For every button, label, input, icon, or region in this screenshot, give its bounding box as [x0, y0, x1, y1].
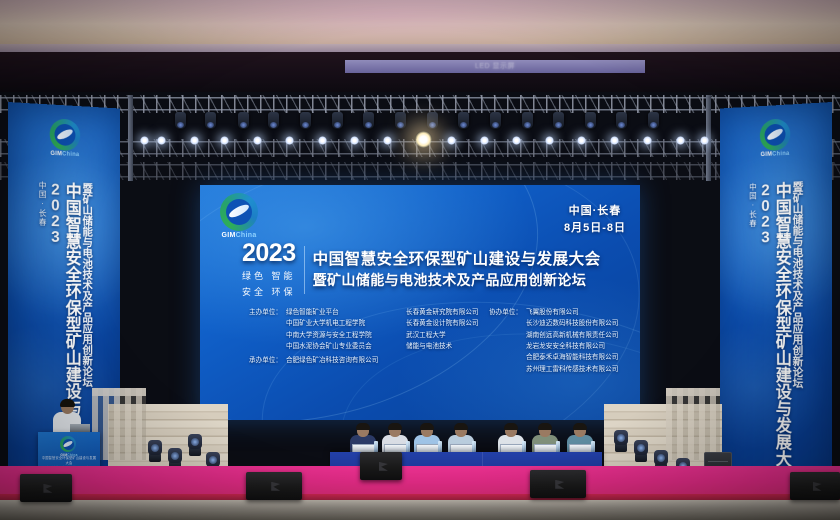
sponsor-host-col1-item: 中南大学资源与安全工程学院: [282, 330, 406, 341]
balustrade-right: [666, 388, 720, 460]
sponsor-coorganizer-label: [468, 364, 522, 375]
screen-titles: 中国智慧安全环保型矿山建设与发展大会 暨矿山储能与电池技术及产品应用创新论坛: [313, 250, 601, 290]
stage-spotlight: [643, 136, 652, 145]
logo-wordmark-main: GIMChina: [220, 232, 258, 239]
speaker-hair: [60, 399, 75, 407]
sponsor-host-col1-item: 中国矿业大学机电工程学院: [282, 318, 406, 329]
screen-year-block: 2023 绿色 智能 安全 环保: [242, 241, 296, 298]
floor-moving-light: [148, 440, 162, 462]
light-lens: [637, 444, 645, 452]
stage-spotlight: [700, 136, 709, 145]
light-lens: [617, 434, 625, 442]
sponsor-coorganizer-row: 协办单位：飞翼股份有限公司: [468, 307, 628, 318]
screen-location-block: 中国·长春 8月5日-8日: [564, 203, 626, 236]
light-head: [148, 440, 162, 455]
moving-head-light: [648, 112, 659, 129]
moving-head-light: [395, 112, 406, 129]
side-banner-right: GIMChina 暨矿山储能与电池技术及产品应用创新论坛 中国智慧安全环保型矿山…: [720, 102, 832, 520]
screen-title-line1: 中国智慧安全环保型矿山建设与发展大会: [313, 250, 601, 269]
gim-logo-left: GIMChina: [39, 118, 90, 162]
balustrade-left: [92, 388, 146, 460]
sponsor-coorganizer-label: [468, 330, 522, 341]
sponsor-coorganizer-item: 合肥泰禾卓海智能科技有限公司: [522, 352, 628, 363]
sponsor-host-col1-item: 绿色智能矿业平台: [282, 307, 406, 318]
screen-slogan-line2: 安全 环保: [242, 285, 296, 298]
moving-head-light: [427, 112, 438, 129]
stage-monitor-speaker: [20, 474, 72, 502]
moving-head-light: [458, 112, 469, 129]
moving-head-light: [300, 112, 311, 129]
moving-head-light: [522, 112, 533, 129]
stage-spotlight: [545, 136, 554, 145]
light-head: [654, 450, 668, 465]
screen-title-line2: 暨矿山储能与电池技术及产品应用创新论坛: [313, 271, 601, 289]
sponsor-coorganizer-item: 长沙迪迈数码科技股份有限公司: [522, 318, 628, 329]
main-led-screen: GIMChina 中国·长春 8月5日-8日 2023 绿色 智能 安全 环保 …: [200, 185, 640, 420]
light-head: [634, 440, 648, 455]
stage-spotlight: [447, 136, 456, 145]
sponsor-coorganizer-block: 协办单位：飞翼股份有限公司长沙迪迈数码科技股份有限公司湖南创远高新机械有限责任公…: [468, 307, 628, 375]
sponsor-coorganizer-row: 合肥泰禾卓海智能科技有限公司: [468, 352, 628, 363]
light-lens: [209, 456, 217, 464]
stage-spotlight: [512, 136, 521, 145]
floor-moving-light: [634, 440, 648, 462]
screen-dates: 8月5日-8日: [564, 220, 626, 237]
attendee-hair: [454, 423, 468, 430]
sponsor-coorganizer-label: 协办单位：: [468, 307, 522, 318]
sponsor-coorganizer-row: 湖南创远高新机械有限责任公司: [468, 330, 628, 341]
screen-title-divider: [304, 246, 305, 294]
gim-logo-right: GIMChina: [750, 118, 801, 162]
stage-spotlight: [285, 136, 294, 145]
sponsor-host-label: [228, 318, 282, 329]
light-head: [168, 448, 182, 463]
sponsor-coorganizer-rows: 协办单位：飞翼股份有限公司长沙迪迈数码科技股份有限公司湖南创远高新机械有限责任公…: [468, 307, 628, 375]
lighting-truss-front: [0, 95, 840, 113]
stage-spotlight: [383, 136, 392, 145]
attendee-hair: [538, 423, 552, 430]
stage-spotlight: [318, 136, 327, 145]
sponsor-host-label: [228, 341, 282, 352]
logo-wordmark-left: GIMChina: [50, 151, 80, 158]
screen-slogan-line1: 绿色 智能: [242, 269, 296, 282]
sponsor-coorganizer-item: 飞翼股份有限公司: [522, 307, 628, 318]
side-banner-right-location: 中国·长春: [749, 183, 757, 506]
moving-head-light: [363, 112, 374, 129]
sponsor-coorganizer-row: 苏州理工雷科传感技术有限公司: [468, 364, 628, 375]
light-head: [614, 430, 628, 445]
sponsor-host-col1-item: 中国水泥协会矿山专业委员会: [282, 341, 406, 352]
stage-spotlight: [480, 136, 489, 145]
light-head: [206, 452, 220, 467]
lighting-truss-back: [0, 162, 840, 180]
moving-head-light: [205, 112, 216, 129]
floor-moving-light: [188, 434, 202, 456]
side-banner-right-subtitle: 暨矿山储能与电池技术及产品应用创新论坛: [791, 181, 802, 508]
venue-led-strip-text: LED 显示屏: [345, 60, 645, 73]
screen-location: 中国·长春: [564, 203, 626, 220]
stage-spotlight: [610, 136, 619, 145]
moving-head-light: [238, 112, 249, 129]
attendee-hair: [504, 423, 518, 430]
moving-head-light: [490, 112, 501, 129]
light-lens: [171, 452, 179, 460]
stage-monitor-speaker: [530, 470, 586, 498]
floor-moving-light: [614, 430, 628, 452]
stage-spotlight: [190, 136, 199, 145]
stage-spotlight: [253, 136, 262, 145]
sponsor-coorganizer-label: [468, 341, 522, 352]
attendee-hair: [388, 423, 402, 430]
sponsor-coorganizer-row: 龙岩龙安安全科技有限公司: [468, 341, 628, 352]
stage-spotlight: [415, 131, 432, 148]
sponsor-coorganizer-item: 苏州理工雷科传感技术有限公司: [522, 364, 628, 375]
sponsor-coorganizer-item: 龙岩龙安安全科技有限公司: [522, 341, 628, 352]
sponsor-coorganizer-item: 湖南创远高新机械有限责任公司: [522, 330, 628, 341]
side-banner-right-text: 暨矿山储能与电池技术及产品应用创新论坛 中国智慧安全环保型矿山建设与发展大会 2…: [720, 180, 832, 510]
stage-spotlight: [140, 136, 149, 145]
attendee-hair: [573, 423, 587, 430]
screen-year: 2023: [242, 241, 296, 266]
moving-head-light: [585, 112, 596, 129]
venue-led-strip: LED 显示屏: [345, 60, 645, 73]
moving-head-light: [268, 112, 279, 129]
side-banner-right-year: 2023: [757, 182, 772, 507]
gim-logo-main: GIMChina: [208, 193, 270, 242]
sponsor-coorganizer-label: [468, 352, 522, 363]
screen-sponsor-block: 主办单位：绿色智能矿业平台长春黄金研究院有限公司中国矿业大学机电工程学院长春黄金…: [228, 307, 620, 367]
sponsor-host-label: [228, 330, 282, 341]
moving-head-light: [332, 112, 343, 129]
moving-head-light: [553, 112, 564, 129]
truss-upright-left: [128, 95, 133, 181]
conference-stage-photo: LED 显示屏 GIMChina 暨矿山储能与电池技术及产品应用创新论坛 中国智…: [0, 0, 840, 520]
stage-spotlight: [676, 136, 685, 145]
light-lens: [191, 438, 199, 446]
sponsor-coorganizer-label: [468, 318, 522, 329]
sponsor-organizer-label: 承办单位：: [228, 355, 282, 366]
light-lens: [151, 444, 159, 452]
stage-monitor-speaker: [246, 472, 302, 500]
stage-monitor-speaker: [360, 452, 402, 480]
foreground-floor: [0, 500, 840, 520]
sponsor-host-label: 主办单位：: [228, 307, 282, 318]
stage-monitor-speaker: [790, 472, 840, 500]
light-lens: [657, 454, 665, 462]
moving-head-light: [175, 112, 186, 129]
podium-title-line1: 中国智慧安全环保型矿山建设与发展大会: [41, 456, 97, 466]
attendee-hair: [420, 423, 434, 430]
screen-title-block: 2023 绿色 智能 安全 环保 中国智慧安全环保型矿山建设与发展大会 暨矿山储…: [242, 241, 601, 298]
attendee-hair: [356, 423, 370, 430]
stage-spotlight: [577, 136, 586, 145]
sponsor-coorganizer-row: 长沙迪迈数码科技股份有限公司: [468, 318, 628, 329]
moving-head-light: [616, 112, 627, 129]
stage-spotlight: [157, 136, 166, 145]
light-head: [188, 434, 202, 449]
side-banner-right-title: 中国智慧安全环保型矿山建设与发展大会: [774, 182, 791, 508]
stage-spotlight: [220, 136, 229, 145]
logo-wordmark-right: GIMChina: [760, 151, 790, 158]
stage-spotlight: [350, 136, 359, 145]
